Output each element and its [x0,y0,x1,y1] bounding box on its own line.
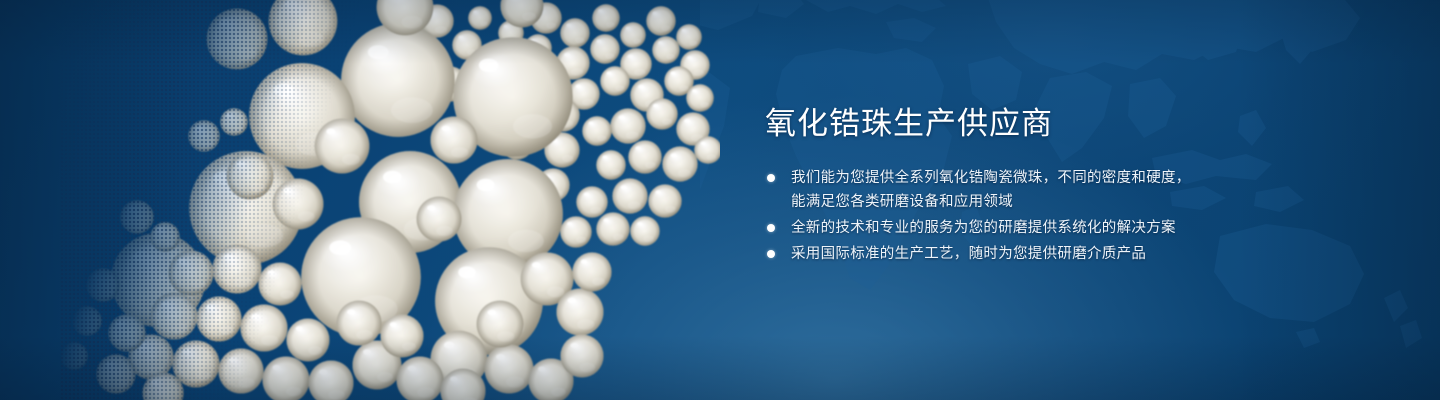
bullet-dot-icon [767,174,775,182]
feature-list: 我们能为您提供全系列氧化锆陶瓷微珠，不同的密度和硬度， 能满足您各类研磨设备和应… [765,166,1405,266]
list-item: 全新的技术和专业的服务为您的研磨提供系统化的解决方案 [765,216,1405,240]
list-item-line: 采用国际标准的生产工艺，随时为您提供研磨介质产品 [791,242,1405,266]
list-item-line: 我们能为您提供全系列氧化锆陶瓷微珠，不同的密度和硬度， [791,166,1405,190]
list-item-line: 全新的技术和专业的服务为您的研磨提供系统化的解决方案 [791,216,1405,240]
bullet-dot-icon [767,250,775,258]
page-title: 氧化锆珠生产供应商 [765,104,1405,144]
bullet-dot-icon [767,224,775,232]
list-item: 我们能为您提供全系列氧化锆陶瓷微珠，不同的密度和硬度， 能满足您各类研磨设备和应… [765,166,1405,214]
banner-copy: 氧化锆珠生产供应商 我们能为您提供全系列氧化锆陶瓷微珠，不同的密度和硬度， 能满… [765,104,1405,268]
product-hero-banner: 氧化锆珠生产供应商 我们能为您提供全系列氧化锆陶瓷微珠，不同的密度和硬度， 能满… [0,0,1440,400]
list-item-line: 能满足您各类研磨设备和应用领域 [791,190,1405,214]
list-item: 采用国际标准的生产工艺，随时为您提供研磨介质产品 [765,242,1405,266]
